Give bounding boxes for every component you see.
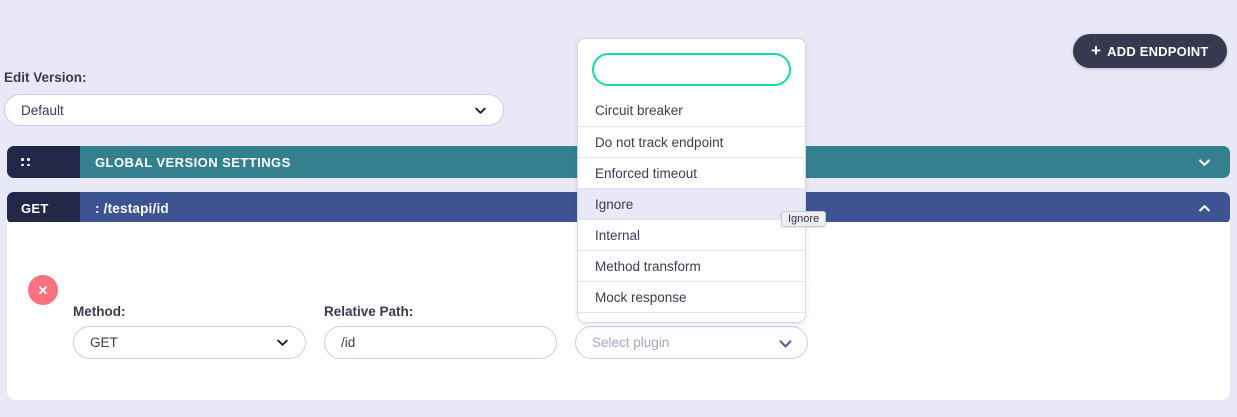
list-item[interactable]: Do not track endpoint [578, 126, 805, 157]
tooltip: Ignore [781, 211, 826, 227]
global-version-settings-title: GLOBAL VERSION SETTINGS [95, 155, 291, 170]
list-item[interactable]: Ignore [578, 188, 805, 219]
plugin-select-placeholder: Select plugin [592, 335, 778, 350]
version-select-value: Default [21, 103, 474, 118]
list-item[interactable]: Modify headers [578, 312, 805, 323]
relative-path-input[interactable] [341, 335, 540, 350]
chevron-up-icon[interactable] [1197, 201, 1212, 216]
add-endpoint-label: ADD ENDPOINT [1107, 44, 1208, 59]
remove-endpoint-button[interactable]: ✕ [28, 275, 58, 305]
plugin-select[interactable]: Select plugin [575, 326, 808, 359]
plugin-dropdown-panel[interactable]: Circuit breaker Do not track endpoint En… [577, 38, 806, 323]
method-select[interactable]: GET [73, 326, 306, 359]
relative-path-label: Relative Path: [324, 304, 413, 319]
drag-handle-icon[interactable] [7, 146, 80, 178]
relative-path-field[interactable] [324, 326, 557, 359]
list-item[interactable]: Enforced timeout [578, 157, 805, 188]
chevron-down-icon [276, 336, 289, 349]
endpoint-method-badge: GET [7, 192, 80, 224]
plugin-search-input[interactable] [592, 53, 791, 86]
list-item[interactable]: Internal [578, 219, 805, 250]
list-item[interactable]: Mock response [578, 281, 805, 312]
chevron-down-icon [778, 336, 791, 349]
chevron-down-icon[interactable] [1197, 155, 1212, 170]
plugin-search-wrap [578, 39, 805, 95]
endpoint-path-title: : /testapi/id [95, 201, 169, 216]
add-endpoint-button[interactable]: + ADD ENDPOINT [1073, 34, 1227, 68]
method-select-value: GET [90, 335, 276, 350]
list-item[interactable]: Circuit breaker [578, 95, 805, 126]
close-icon: ✕ [38, 284, 49, 297]
plus-icon: + [1091, 42, 1101, 59]
plugin-option-list: Circuit breaker Do not track endpoint En… [578, 95, 805, 323]
method-label: Method: [73, 304, 125, 319]
edit-version-label: Edit Version: [4, 70, 87, 85]
chevron-down-icon [474, 104, 487, 117]
version-select[interactable]: Default [4, 94, 504, 126]
list-item[interactable]: Method transform [578, 250, 805, 281]
